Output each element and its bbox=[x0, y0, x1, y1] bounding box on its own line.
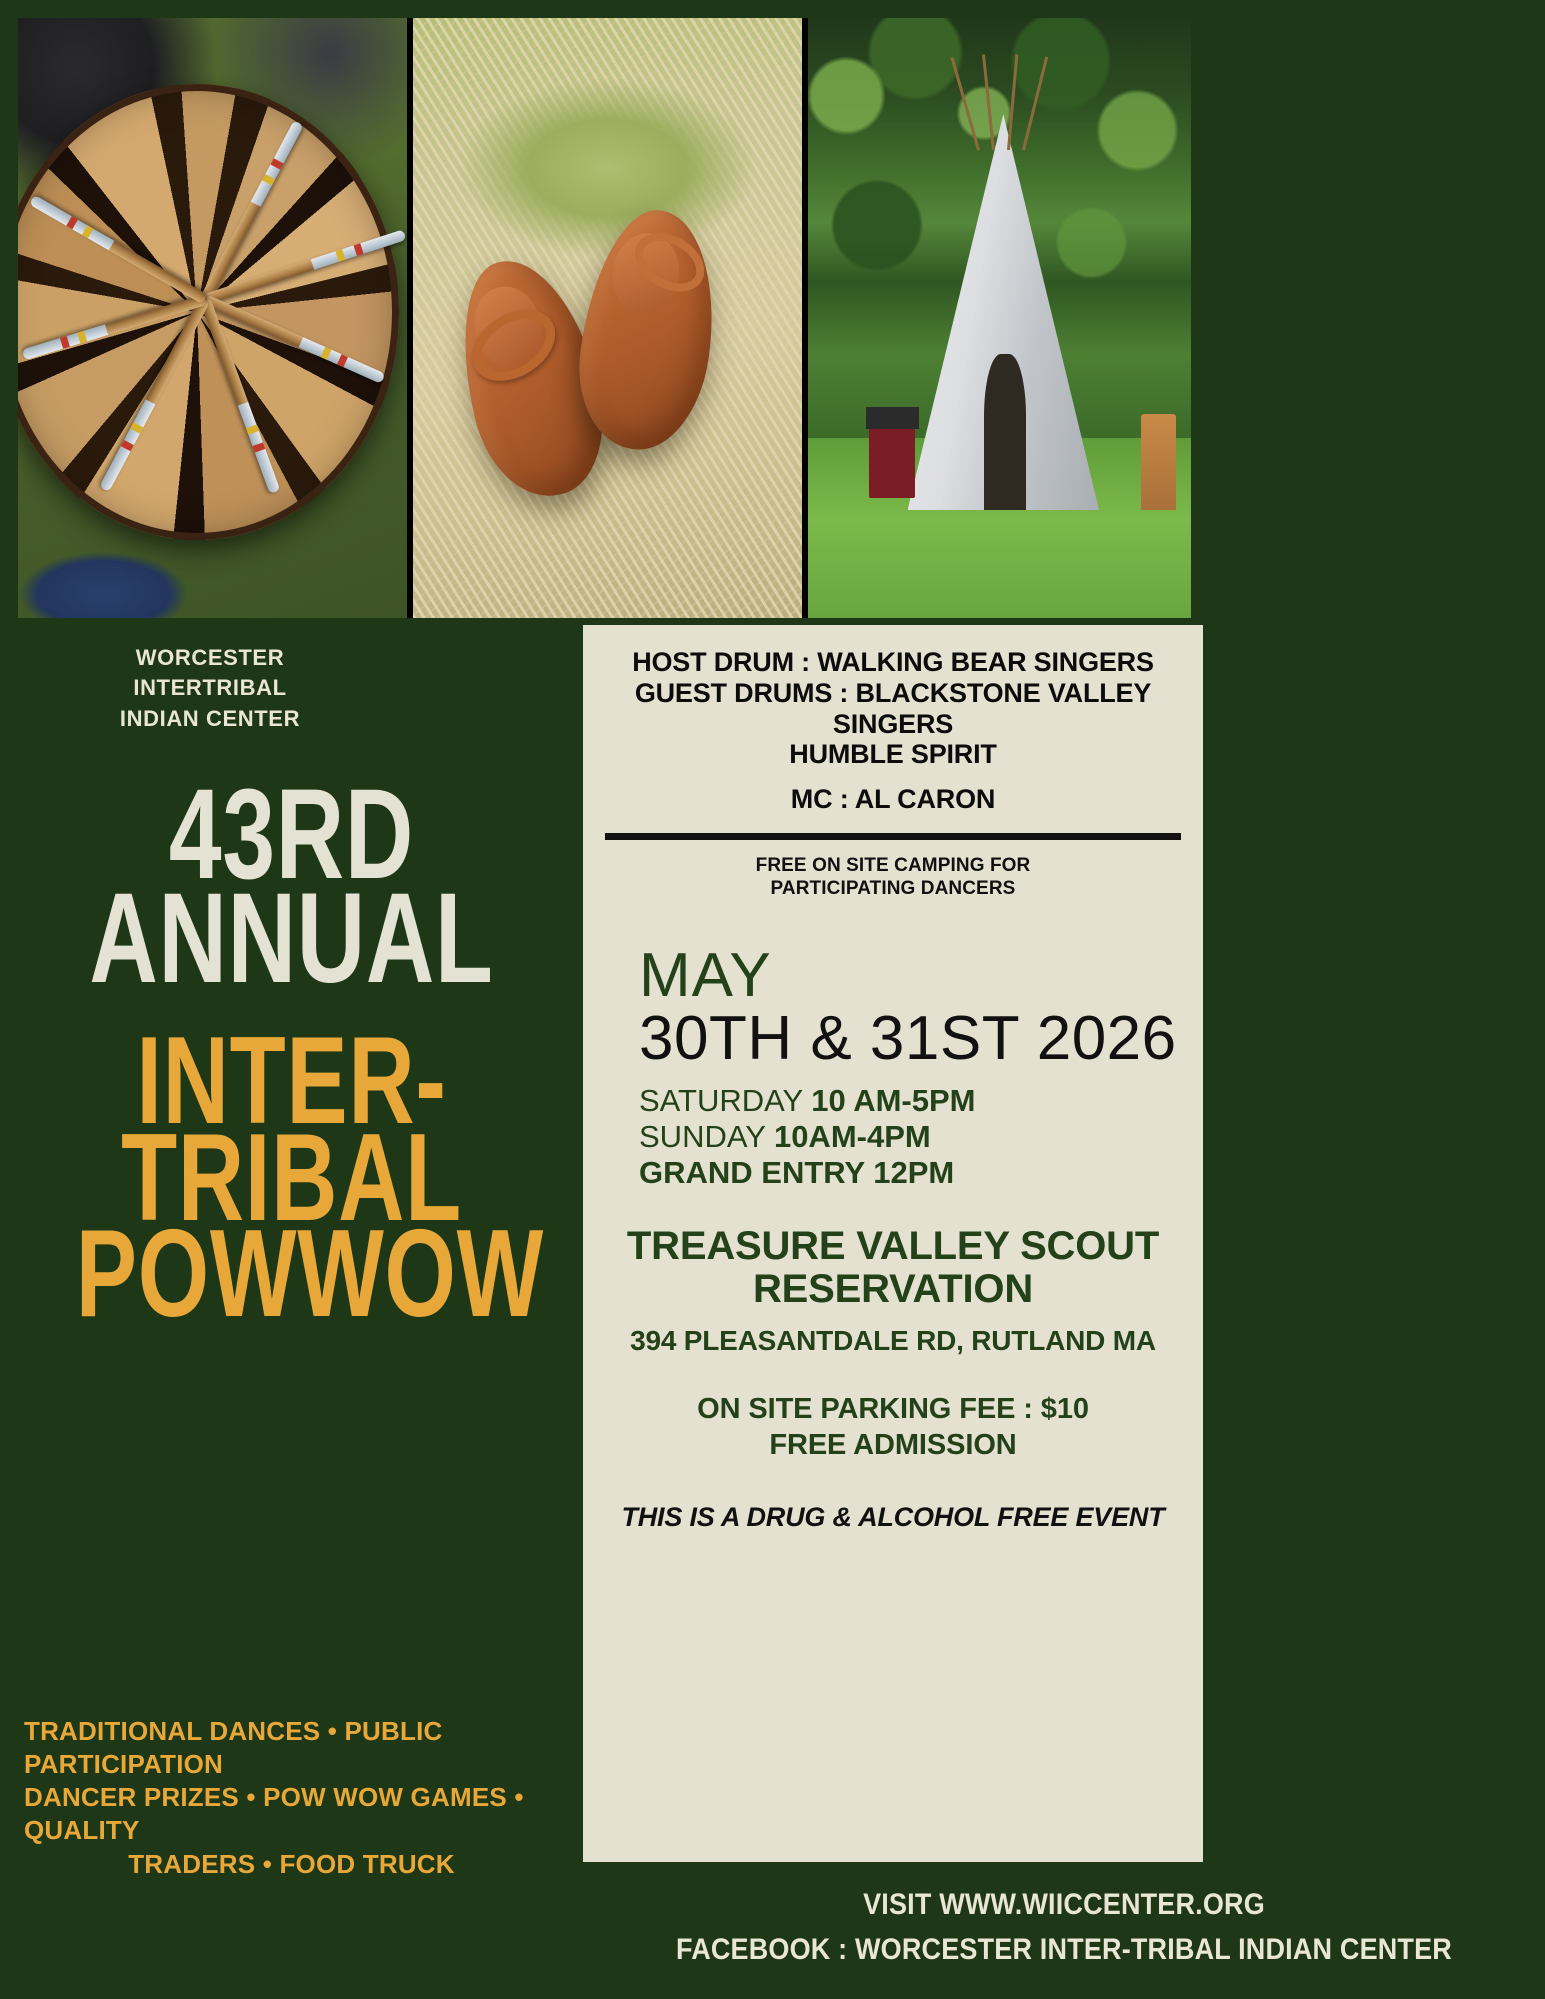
poster-title: 43RD ANNUAL INTER- TRIBAL POWWOW bbox=[0, 780, 583, 1328]
free-admission: FREE ADMISSION bbox=[595, 1427, 1191, 1464]
camping-note: FREE ON SITE CAMPING FOR PARTICIPATING D… bbox=[595, 854, 1191, 900]
venue-name: TREASURE VALLEY SCOUT RESERVATION bbox=[595, 1225, 1191, 1311]
fees-block: ON SITE PARKING FEE : $10 FREE ADMISSION bbox=[595, 1391, 1191, 1464]
title-line-annual: ANNUAL bbox=[76, 884, 507, 994]
left-column: WORCESTER INTERTRIBAL INDIAN CENTER 43RD… bbox=[0, 625, 583, 1999]
org-line-1: WORCESTER bbox=[0, 643, 420, 673]
event-date: MAY 30TH & 31ST 2026 SATURDAY 10 AM-5PM … bbox=[595, 946, 1191, 1190]
photo-hand-drum bbox=[18, 18, 407, 618]
camping-line-1: FREE ON SITE CAMPING FOR bbox=[595, 854, 1191, 877]
moccasin-right-icon bbox=[568, 202, 729, 458]
features-line-1: TRADITIONAL DANCES • PUBLIC PARTICIPATIO… bbox=[8, 1715, 575, 1782]
humble-spirit: HUMBLE SPIRIT bbox=[595, 739, 1191, 770]
photo-tipi bbox=[808, 18, 1191, 618]
venue-address: 394 PLEASANTDALE RD, RUTLAND MA bbox=[595, 1325, 1191, 1357]
venue-line-2: RESERVATION bbox=[595, 1268, 1191, 1311]
footer-contact: VISIT WWW.WIICCENTER.ORG FACEBOOK : WORC… bbox=[583, 1866, 1545, 1999]
poster-root: WORCESTER INTERTRIBAL INDIAN CENTER 43RD… bbox=[0, 0, 1545, 1999]
grand-entry-time: GRAND ENTRY 12PM bbox=[639, 1155, 1191, 1191]
features-line-2: DANCER PRIZES • POW WOW GAMES • QUALITY bbox=[8, 1781, 575, 1848]
footer-facebook[interactable]: FACEBOOK : WORCESTER INTER-TRIBAL INDIAN… bbox=[631, 1927, 1497, 1972]
org-line-3: INDIAN CENTER bbox=[0, 704, 420, 734]
tipi-door-icon bbox=[984, 354, 1026, 510]
divider-rule bbox=[605, 833, 1181, 840]
mc-line: MC : AL CARON bbox=[595, 784, 1191, 815]
drum-lineup: HOST DRUM : WALKING BEAR SINGERS GUEST D… bbox=[595, 647, 1191, 815]
host-drum-line: HOST DRUM : WALKING BEAR SINGERS bbox=[595, 647, 1191, 678]
parking-fee: ON SITE PARKING FEE : $10 bbox=[595, 1391, 1191, 1428]
sunday-hours: SUNDAY 10AM-4PM bbox=[639, 1119, 1191, 1155]
wooden-chair-icon bbox=[1141, 414, 1175, 510]
saturday-label: SATURDAY bbox=[639, 1083, 811, 1118]
info-panel: HOST DRUM : WALKING BEAR SINGERS GUEST D… bbox=[583, 625, 1203, 1862]
venue-line-1: TREASURE VALLEY SCOUT bbox=[595, 1225, 1191, 1268]
organization-name: WORCESTER INTERTRIBAL INDIAN CENTER bbox=[0, 643, 420, 734]
footer-website[interactable]: VISIT WWW.WIICCENTER.ORG bbox=[631, 1882, 1497, 1927]
guest-drums-line: GUEST DRUMS : BLACKSTONE VALLEY bbox=[595, 678, 1191, 709]
sunday-value: 10AM-4PM bbox=[774, 1119, 931, 1154]
features-list: TRADITIONAL DANCES • PUBLIC PARTICIPATIO… bbox=[8, 1715, 575, 1881]
altar-table-icon bbox=[869, 426, 915, 498]
event-days-year: 30TH & 31ST 2026 bbox=[639, 1006, 1191, 1073]
guest-drums-cont: SINGERS bbox=[595, 709, 1191, 740]
event-times: SATURDAY 10 AM-5PM SUNDAY 10AM-4PM GRAND… bbox=[639, 1083, 1191, 1191]
sunday-label: SUNDAY bbox=[639, 1119, 774, 1154]
photo-strip bbox=[18, 18, 1191, 618]
features-line-3: TRADERS • FOOD TRUCK bbox=[8, 1848, 575, 1881]
photo-moccasins bbox=[413, 18, 802, 618]
saturday-value: 10 AM-5PM bbox=[811, 1083, 975, 1118]
event-month: MAY bbox=[639, 946, 1191, 1006]
drug-free-notice: THIS IS A DRUG & ALCOHOL FREE EVENT bbox=[595, 1502, 1191, 1533]
saturday-hours: SATURDAY 10 AM-5PM bbox=[639, 1083, 1191, 1119]
title-line-powwow: POWWOW bbox=[76, 1221, 507, 1328]
camping-line-2: PARTICIPATING DANCERS bbox=[595, 877, 1191, 900]
org-line-2: INTERTRIBAL bbox=[0, 673, 420, 703]
